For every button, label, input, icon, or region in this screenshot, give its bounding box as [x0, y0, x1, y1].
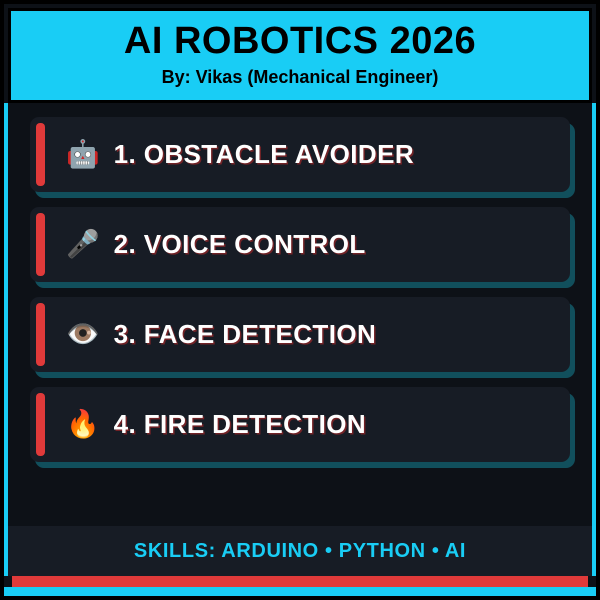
poster-container: AI ROBOTICS 2026 By: Vikas (Mechanical E…	[0, 0, 600, 600]
author-subtitle: By: Vikas (Mechanical Engineer)	[21, 68, 579, 88]
fire-icon: 🔥	[66, 411, 100, 438]
accent-bar	[36, 213, 45, 276]
list-item-label: 1. OBSTACLE AVOIDER	[114, 139, 414, 170]
skills-text: SKILLS: ARDUINO • PYTHON • AI	[134, 540, 466, 562]
list-item[interactable]: 👁️ 3. FACE DETECTION	[30, 297, 570, 372]
microphone-icon: 🎤	[66, 231, 100, 258]
accent-bar	[36, 393, 45, 456]
accent-bar	[36, 123, 45, 186]
poster-footer: SKILLS: ARDUINO • PYTHON • AI	[4, 526, 596, 576]
cyan-stripe	[4, 587, 596, 596]
list-item-label: 4. FIRE DETECTION	[114, 409, 366, 440]
poster-header: AI ROBOTICS 2026 By: Vikas (Mechanical E…	[8, 8, 592, 103]
list-item-label: 2. VOICE CONTROL	[114, 229, 366, 260]
robot-icon: 🤖	[66, 141, 100, 168]
list-item-label: 3. FACE DETECTION	[114, 319, 377, 350]
list-item[interactable]: 🔥 4. FIRE DETECTION	[30, 387, 570, 462]
accent-bar	[36, 303, 45, 366]
red-stripe	[12, 576, 588, 587]
eye-icon: 👁️	[66, 321, 100, 348]
list-item[interactable]: 🎤 2. VOICE CONTROL	[30, 207, 570, 282]
project-list: 🤖 1. OBSTACLE AVOIDER 🎤 2. VOICE CONTROL…	[4, 103, 596, 526]
list-item[interactable]: 🤖 1. OBSTACLE AVOIDER	[30, 117, 570, 192]
page-title: AI ROBOTICS 2026	[21, 21, 579, 62]
